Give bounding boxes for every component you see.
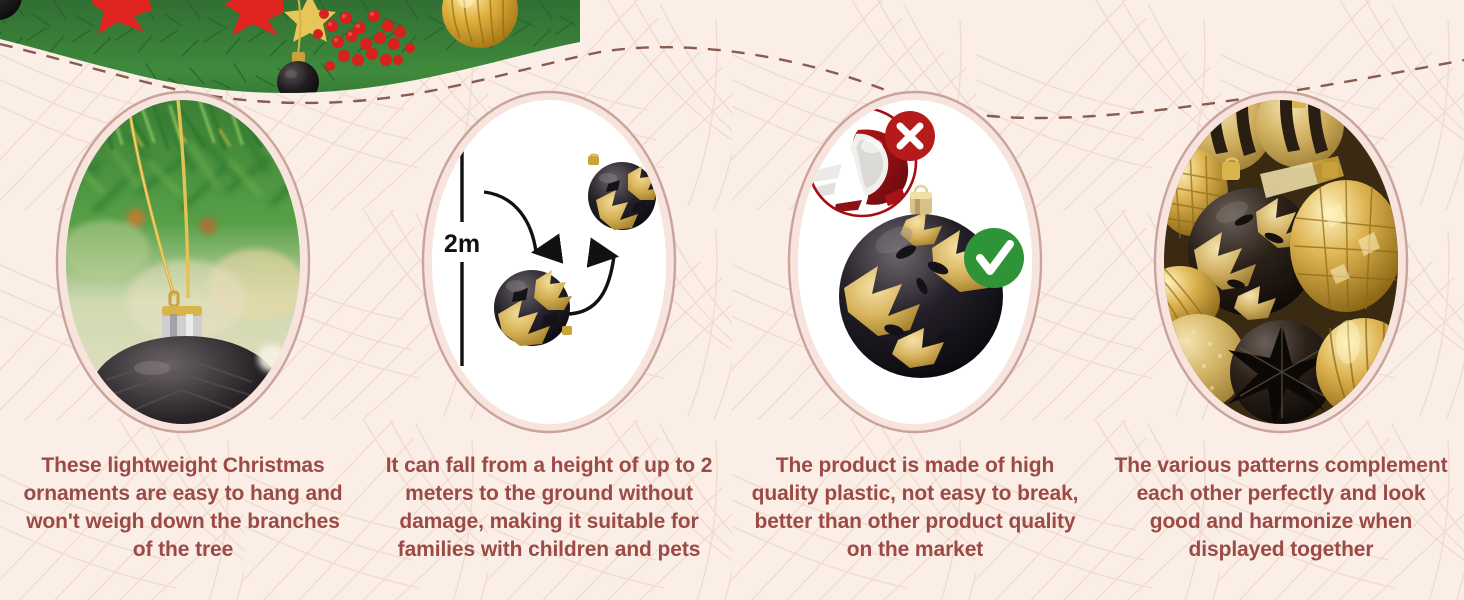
panel-hanging (0, 86, 366, 466)
error-badge (885, 111, 935, 161)
measure-label-2m: 2m (444, 230, 480, 258)
caption-row: These lightweight Christmas ornaments ar… (0, 452, 1464, 600)
success-badge (964, 228, 1024, 288)
drop-test-diagram: 2m (432, 100, 666, 424)
caption-hanging: These lightweight Christmas ornaments ar… (0, 452, 366, 600)
infographic-root: 2m (0, 0, 1464, 600)
caption-patterns: The various patterns complement each oth… (1098, 452, 1464, 600)
panel-hanging-image-clip (66, 100, 300, 424)
ornament-hanging-on-tree-branch-photo (66, 100, 300, 424)
shatterproof-comparison (798, 100, 1032, 424)
panel-drop-test-diagram-clip: 2m (432, 100, 666, 424)
gold-and-black-ornament-assortment-photo (1164, 100, 1398, 424)
feature-panel-row: 2m (0, 86, 1464, 466)
panel-patterns-image-clip (1164, 100, 1398, 424)
caption-drop-test: It can fall from a height of up to 2 met… (366, 452, 732, 600)
panel-quality-image-clip (798, 100, 1032, 424)
caption-quality: The product is made of high quality plas… (732, 452, 1098, 600)
panel-patterns (1098, 86, 1464, 466)
panel-drop-test: 2m (366, 86, 732, 466)
panel-quality (732, 86, 1098, 466)
